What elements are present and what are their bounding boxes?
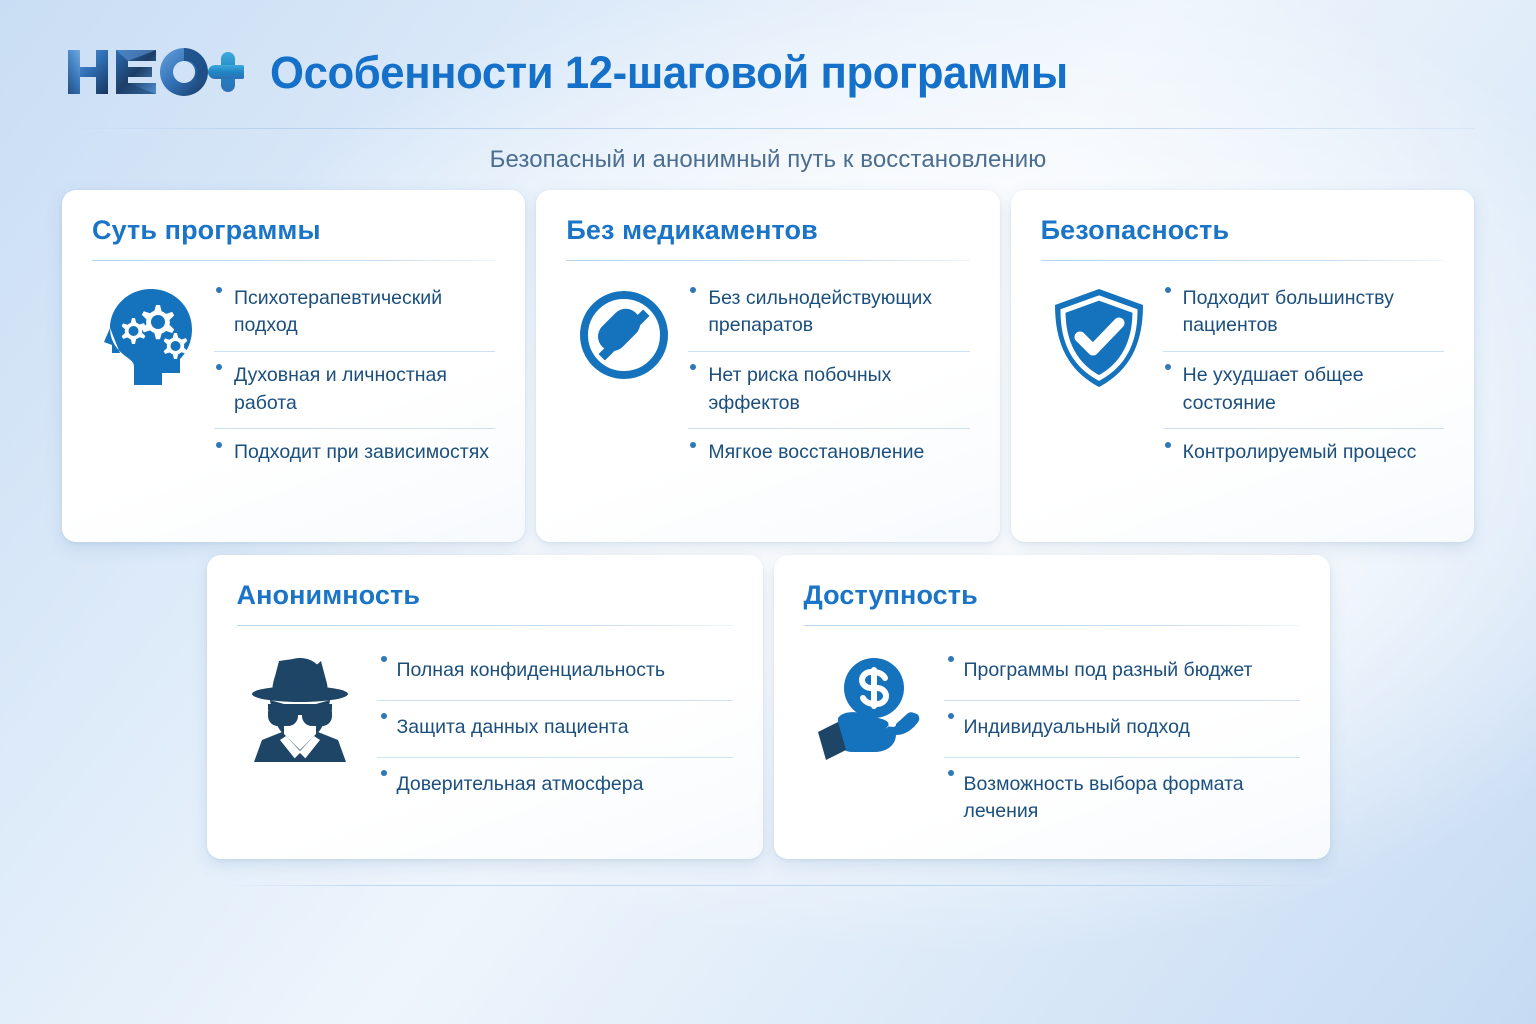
card-divider	[1041, 260, 1444, 261]
list-item: Мягкое восстановление	[688, 429, 969, 488]
card-divider	[237, 625, 733, 626]
list-item-text: Возможность выбора формата лечения	[964, 773, 1244, 823]
bullet-dot-icon	[216, 287, 222, 293]
bullet-list: Без сильнодействующих препаратов Нет рис…	[682, 275, 969, 489]
list-item: Духовная и личностная работа	[214, 352, 495, 429]
cards-row-top: Суть программы Психотерапевтичес	[0, 190, 1536, 542]
shield-check-icon	[1041, 283, 1157, 389]
page-title: Особенности 12-шаговой программы	[270, 50, 1068, 95]
card-anonimnost[interactable]: Анонимность	[207, 555, 763, 859]
list-item-text: Мягкое восстановление	[708, 441, 924, 463]
list-item-text: Духовная и личностная работа	[234, 364, 447, 414]
header-divider	[62, 128, 1474, 129]
bullet-dot-icon	[216, 364, 222, 370]
bullet-dot-icon	[690, 287, 696, 293]
bullet-dot-icon	[690, 442, 696, 448]
list-item: Не ухудшает общее состояние	[1163, 352, 1444, 429]
card-dostupnost[interactable]: Доступность Програ	[774, 555, 1330, 859]
bullet-dot-icon	[948, 770, 954, 776]
list-item-text: Доверительная атмосфера	[397, 773, 644, 795]
list-item-text: Программы под разный бюджет	[964, 659, 1253, 681]
card-body: Полная конфиденциальность Защита данных …	[237, 648, 733, 815]
card-title: Суть программы	[92, 216, 495, 246]
list-item: Доверительная атмосфера	[377, 758, 733, 815]
card-title: Без медикаментов	[566, 216, 969, 246]
list-item: Контролируемый процесс	[1163, 429, 1444, 488]
list-item-text: Защита данных пациента	[397, 716, 629, 738]
no-pills-icon	[566, 283, 682, 383]
card-divider	[92, 260, 495, 261]
list-item-text: Контролируемый процесс	[1183, 441, 1417, 463]
bullet-dot-icon	[948, 656, 954, 662]
bullet-dot-icon	[381, 770, 387, 776]
page-header: Особенности 12-шаговой программы Безопас…	[0, 0, 1536, 190]
bullet-dot-icon	[1165, 364, 1171, 370]
neo-plus-logo-icon	[66, 44, 244, 100]
bullet-dot-icon	[690, 364, 696, 370]
card-divider	[566, 260, 969, 261]
list-item-text: Полная конфиденциальность	[397, 659, 666, 681]
list-item: Защита данных пациента	[377, 701, 733, 758]
card-title: Анонимность	[237, 581, 733, 611]
card-body: Психотерапевтический подход Духовная и л…	[92, 283, 495, 489]
card-sut-programmy[interactable]: Суть программы Психотерапевтичес	[62, 190, 525, 542]
list-item-text: Индивидуальный подход	[964, 716, 1190, 738]
card-body: Подходит большинству пациентов Не ухудша…	[1041, 283, 1444, 489]
list-item: Возможность выбора формата лечения	[944, 758, 1300, 840]
bullet-list: Психотерапевтический подход Духовная и л…	[208, 275, 495, 489]
list-item-text: Подходит при зависимостях	[234, 441, 489, 463]
list-item-text: Не ухудшает общее состояние	[1183, 364, 1364, 414]
brand-row: Особенности 12-шаговой программы	[66, 44, 1092, 100]
head-with-gears-icon	[92, 283, 208, 387]
bullet-dot-icon	[381, 713, 387, 719]
bullet-dot-icon	[1165, 442, 1171, 448]
list-item: Программы под разный бюджет	[944, 644, 1300, 701]
list-item: Подходит при зависимостях	[214, 429, 495, 488]
bullet-list: Подходит большинству пациентов Не ухудша…	[1157, 275, 1444, 489]
footer-divider	[218, 885, 1318, 886]
bullet-dot-icon	[216, 442, 222, 448]
card-title: Безопасность	[1041, 216, 1444, 246]
hand-holding-dollar-icon	[804, 648, 930, 762]
bullet-list: Полная конфиденциальность Защита данных …	[363, 644, 733, 815]
card-bez-medikamentov[interactable]: Без медикаментов Без сильнодействующих п…	[536, 190, 999, 542]
list-item-text: Подходит большинству пациентов	[1183, 287, 1394, 337]
spy-incognito-icon	[237, 648, 363, 766]
list-item: Психотерапевтический подход	[214, 275, 495, 352]
list-item-text: Нет риска побочных эффектов	[708, 364, 891, 414]
list-item-text: Без сильнодействующих препаратов	[708, 287, 932, 337]
card-body: Без сильнодействующих препаратов Нет рис…	[566, 283, 969, 489]
page-subtitle: Безопасный и анонимный путь к восстановл…	[0, 146, 1536, 174]
list-item: Подходит большинству пациентов	[1163, 275, 1444, 352]
card-body: Программы под разный бюджет Индивидуальн…	[804, 648, 1300, 840]
card-bezopasnost[interactable]: Безопасность Подходит большинству пациен…	[1011, 190, 1474, 542]
bullet-dot-icon	[948, 713, 954, 719]
bullet-list: Программы под разный бюджет Индивидуальн…	[930, 644, 1300, 840]
list-item: Индивидуальный подход	[944, 701, 1300, 758]
card-title: Доступность	[804, 581, 1300, 611]
bullet-dot-icon	[381, 656, 387, 662]
list-item: Нет риска побочных эффектов	[688, 352, 969, 429]
card-divider	[804, 625, 1300, 626]
list-item-text: Психотерапевтический подход	[234, 287, 442, 337]
cards-row-bottom: Анонимность	[0, 555, 1536, 859]
bullet-dot-icon	[1165, 287, 1171, 293]
list-item: Полная конфиденциальность	[377, 644, 733, 701]
list-item: Без сильнодействующих препаратов	[688, 275, 969, 352]
